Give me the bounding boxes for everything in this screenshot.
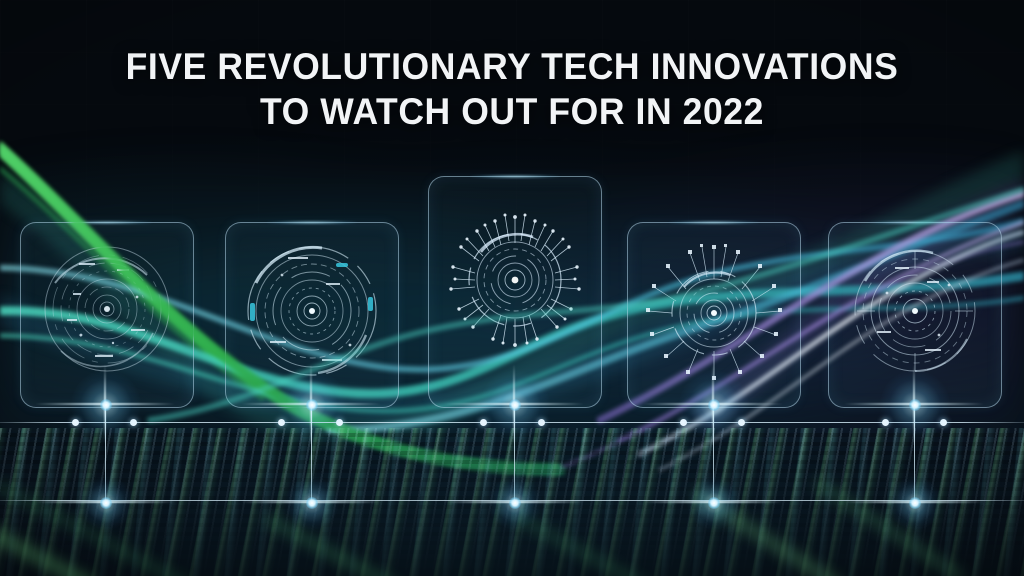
timeline-floor-node-1 — [105, 502, 107, 504]
timeline-floor-node-5 — [914, 502, 916, 504]
timeline-floor-node-2 — [311, 502, 313, 504]
timeline-floor-node-4 — [713, 502, 715, 504]
timeline-node-4 — [713, 404, 715, 406]
timeline-floor-node-3 — [514, 502, 516, 504]
tech-banner-image: FIVE REVOLUTIONARY TECH INNOVATIONS TO W… — [0, 0, 1024, 576]
timeline-node-3 — [514, 404, 516, 406]
timeline-node-1 — [105, 404, 107, 406]
timeline-node-5 — [914, 404, 916, 406]
timeline-connector-graph — [0, 0, 1024, 576]
timeline-node-2 — [311, 404, 313, 406]
